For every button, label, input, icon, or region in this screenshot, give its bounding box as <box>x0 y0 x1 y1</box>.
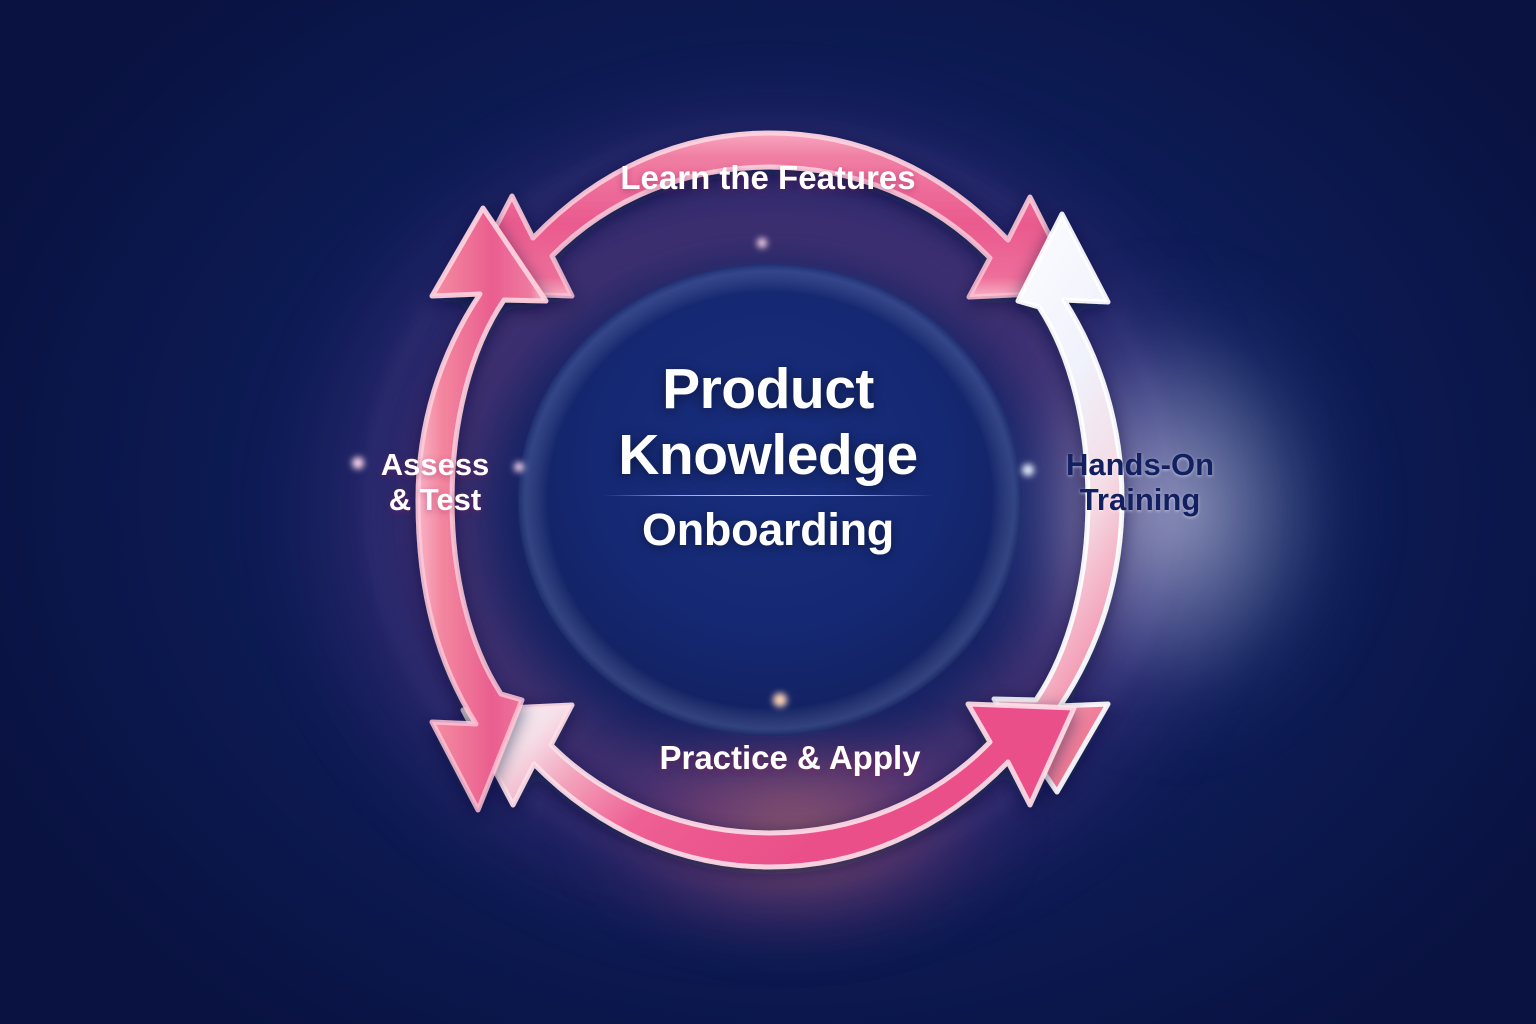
sparkle-right <box>1022 464 1034 476</box>
sparkle-left-outer <box>352 457 364 469</box>
cycle-ring <box>0 0 1536 1024</box>
inner-disc-rim <box>518 264 1022 736</box>
sparkle-top <box>757 238 767 248</box>
sparkle-bottom <box>773 693 787 707</box>
sparkle-left-inner <box>514 462 524 472</box>
diagram-canvas: Product Knowledge Onboarding Learn the F… <box>0 0 1536 1024</box>
